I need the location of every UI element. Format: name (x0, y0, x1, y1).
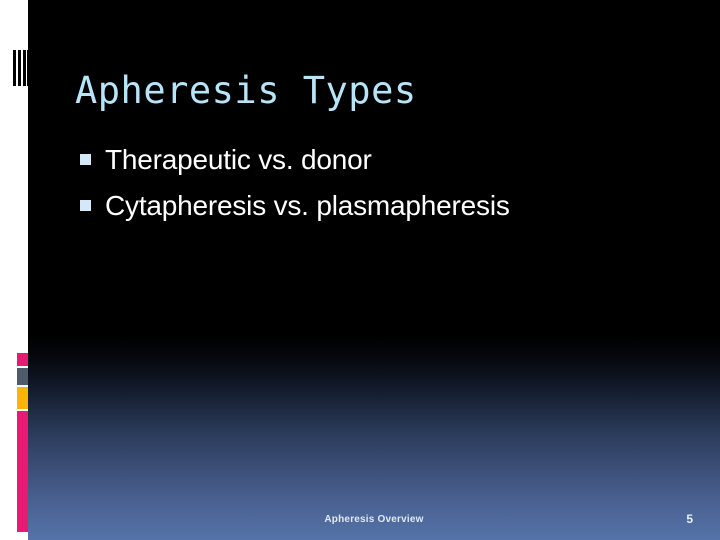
list-item: Therapeutic vs. donor (80, 143, 680, 176)
square-bullet-icon (80, 200, 91, 211)
vertical-bar-1 (13, 50, 16, 86)
slide-number: 5 (686, 512, 693, 526)
slate-segment (17, 368, 28, 385)
square-bullet-icon (80, 154, 91, 165)
list-item: Cytapheresis vs. plasmapheresis (80, 189, 680, 222)
page-title: Apheresis Types (75, 69, 417, 112)
vertical-bar-2 (18, 50, 21, 86)
list-item-label: Cytapheresis vs. plasmapheresis (105, 189, 510, 222)
bullet-list: Therapeutic vs. donor Cytapheresis vs. p… (80, 143, 680, 235)
pink-long-segment (17, 411, 28, 532)
presentation-slide: Apheresis Types Therapeutic vs. donor Cy… (0, 0, 720, 540)
pink-segment (17, 353, 28, 366)
vertical-bar-3 (23, 50, 26, 86)
vertical-bars-icon (13, 50, 29, 86)
slide-footer: Apheresis Overview (28, 514, 720, 525)
amber-segment (17, 387, 28, 409)
vertical-bar-4 (27, 50, 29, 86)
slide-canvas: Apheresis Types Therapeutic vs. donor Cy… (28, 0, 720, 540)
list-item-label: Therapeutic vs. donor (105, 143, 372, 176)
accent-strip (17, 353, 28, 532)
